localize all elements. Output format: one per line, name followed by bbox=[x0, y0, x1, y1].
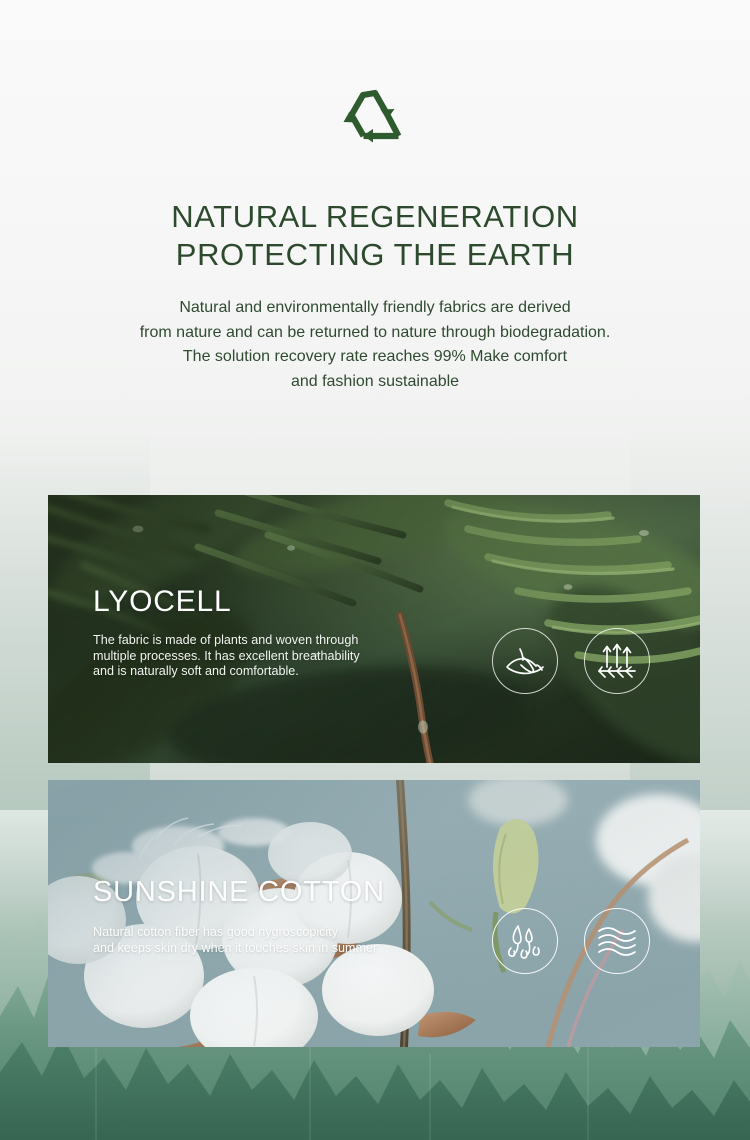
subcopy-line-3: The solution recovery rate reaches 99% M… bbox=[0, 345, 750, 370]
hero-section: NATURAL REGENERATION PROTECTING THE EART… bbox=[0, 0, 750, 394]
headline-line-2: PROTECTING THE EARTH bbox=[0, 236, 750, 274]
cotton-description: Natural cotton fiber has good hygroscopi… bbox=[93, 925, 385, 956]
airflow-waves-icon[interactable] bbox=[584, 908, 650, 974]
lyocell-feature-icons bbox=[492, 628, 650, 694]
cotton-title: SUNSHINE COTTON bbox=[93, 875, 385, 909]
subcopy-line-2: from nature and can be returned to natur… bbox=[0, 321, 750, 346]
page-title: NATURAL REGENERATION PROTECTING THE EART… bbox=[0, 198, 750, 274]
cotton-desc-line-1: Natural cotton fiber has good hygroscopi… bbox=[93, 925, 385, 941]
lyocell-title: LYOCELL bbox=[93, 585, 360, 619]
lyocell-desc-line-1: The fabric is made of plants and woven t… bbox=[93, 633, 360, 649]
breathability-arrows-icon[interactable] bbox=[584, 628, 650, 694]
cotton-text-block: SUNSHINE COTTON Natural cotton fiber has… bbox=[93, 875, 385, 956]
lyocell-desc-line-2: multiple processes. It has excellent bre… bbox=[93, 649, 360, 665]
feature-card-lyocell[interactable]: LYOCELL The fabric is made of plants and… bbox=[48, 495, 700, 763]
lyocell-description: The fabric is made of plants and woven t… bbox=[93, 633, 360, 680]
soft-touch-hand-icon[interactable] bbox=[492, 628, 558, 694]
feature-card-sunshine-cotton[interactable]: SUNSHINE COTTON Natural cotton fiber has… bbox=[48, 780, 700, 1047]
recycle-icon-wrapper bbox=[0, 0, 750, 156]
headline-line-1: NATURAL REGENERATION bbox=[171, 199, 579, 234]
subcopy-line-4: and fashion sustainable bbox=[0, 370, 750, 395]
subcopy-line-1: Natural and environmentally friendly fab… bbox=[0, 296, 750, 321]
page-root: NATURAL REGENERATION PROTECTING THE EART… bbox=[0, 0, 750, 1140]
cotton-feature-icons bbox=[492, 908, 650, 974]
lyocell-text-block: LYOCELL The fabric is made of plants and… bbox=[93, 585, 360, 680]
cotton-desc-line-2: and keeps skin dry when it touches skin … bbox=[93, 941, 385, 957]
lyocell-desc-line-3: and is naturally soft and comfortable. bbox=[93, 664, 360, 680]
hero-description: Natural and environmentally friendly fab… bbox=[0, 296, 750, 394]
moisture-wicking-icon[interactable] bbox=[492, 908, 558, 974]
recycle-icon bbox=[335, 84, 415, 156]
